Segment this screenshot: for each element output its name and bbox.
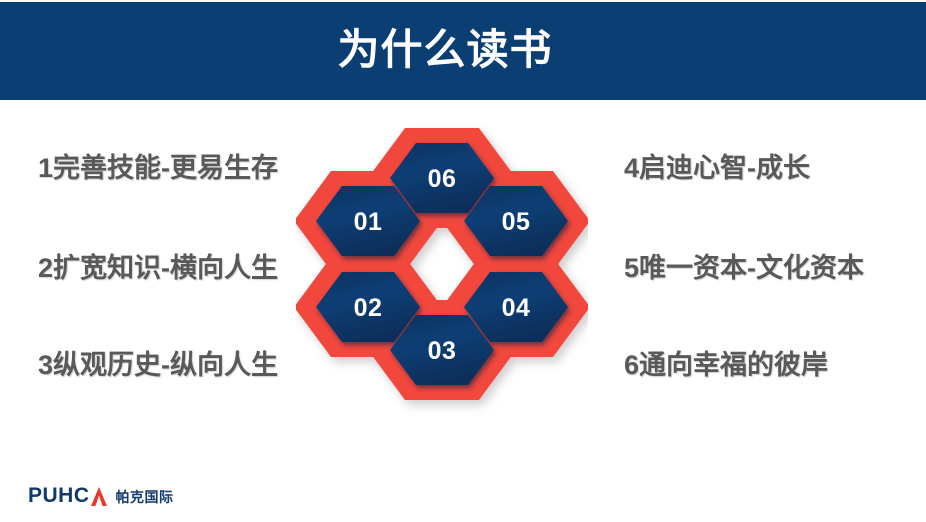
bullet-item-5: 5唯一资本-文化资本 bbox=[624, 251, 924, 285]
hexagon-cluster-diagram: 06 01 05 02 04 03 bbox=[296, 116, 588, 416]
hex-06-label: 06 bbox=[428, 165, 457, 193]
hex-05-label: 05 bbox=[502, 208, 531, 236]
left-text-column: 1完善技能-更易生存 2扩宽知识-横向人生 3纵观历史-纵向人生 bbox=[0, 140, 292, 400]
bullet-item-4: 4启迪心智-成长 bbox=[624, 151, 924, 185]
hex-01-label: 01 bbox=[354, 208, 383, 236]
hexagon-cluster-svg: 06 01 05 02 04 03 bbox=[296, 116, 588, 416]
page-title: 为什么读书 bbox=[0, 24, 890, 76]
bullet-item-1: 1完善技能-更易生存 bbox=[0, 151, 292, 185]
hex-02-label: 02 bbox=[354, 294, 383, 322]
bullet-item-2: 2扩宽知识-横向人生 bbox=[0, 251, 292, 285]
bullet-item-3: 3纵观历史-纵向人生 bbox=[0, 348, 292, 382]
right-text-column: 4启迪心智-成长 5唯一资本-文化资本 6通向幸福的彼岸 bbox=[624, 140, 924, 400]
logo-chinese-name: 帕克国际 bbox=[116, 487, 174, 508]
logo-wordmark-text: PUHC bbox=[28, 484, 90, 507]
brand-logo: PUHC 帕克国际 bbox=[28, 484, 174, 510]
logo-peak-icon bbox=[91, 485, 107, 510]
hex-04-label: 04 bbox=[502, 294, 531, 322]
slide-canvas: 为什么读书 1完善技能-更易生存 2扩宽知识-横向人生 3纵观历史-纵向人生 4… bbox=[0, 0, 926, 522]
hex-03-label: 03 bbox=[428, 337, 457, 365]
bullet-item-6: 6通向幸福的彼岸 bbox=[624, 348, 924, 382]
logo-wordmark: PUHC bbox=[28, 485, 107, 510]
